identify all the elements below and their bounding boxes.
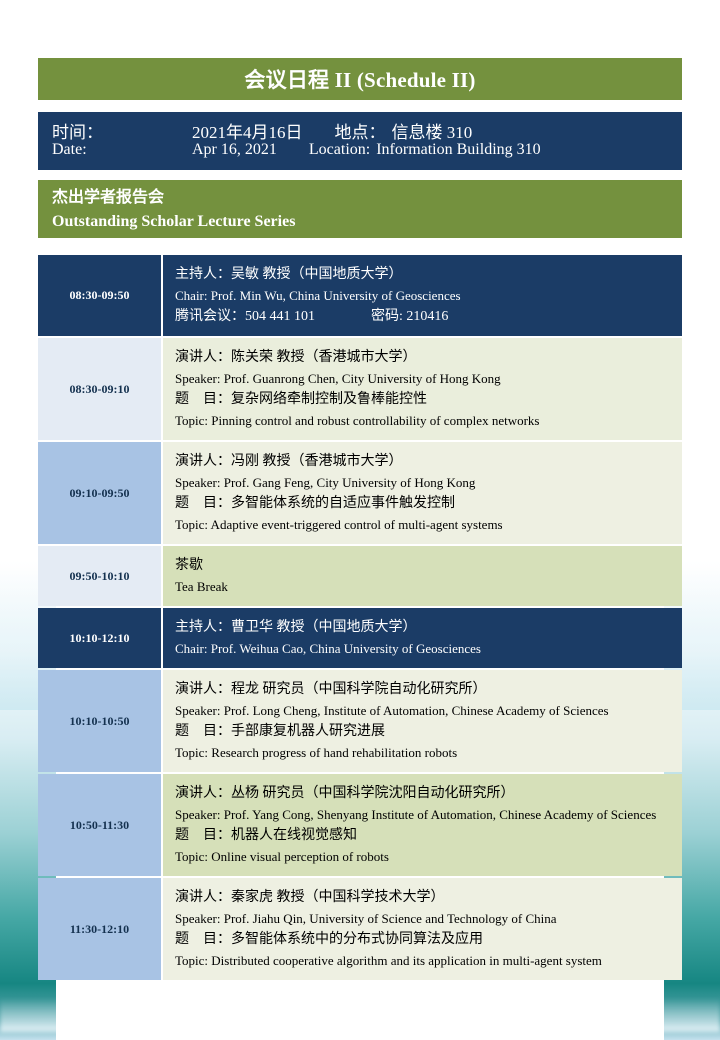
section-title-cn: 杰出学者报告会 [52, 186, 682, 210]
schedule-row: 11:30-12:10演讲人：秦家虎 教授（中国科学技术大学）Speaker: … [38, 878, 682, 980]
location-value-en: Information Building 310 [376, 141, 540, 159]
schedule-table: 08:30-09:50主持人：吴敏 教授（中国地质大学）Chair: Prof.… [38, 255, 682, 982]
date-label-cn: 时间： [52, 118, 192, 143]
schedule-row: 10:10-12:10主持人：曹卫华 教授（中国地质大学）Chair: Prof… [38, 608, 682, 668]
time-slot: 08:30-09:50 [38, 255, 163, 336]
topic-line-cn: 题 目：机器人在线视觉感知 [175, 825, 682, 846]
date-value-en: Apr 16, 2021 [192, 141, 277, 159]
event-info-bar: 时间： 2021年4月16日 地点： 信息楼 310 Date: Apr 16,… [38, 112, 682, 170]
speaker-line-cn: 茶歇 [175, 555, 682, 576]
time-slot: 10:10-12:10 [38, 608, 163, 668]
location-label-cn: 地点： [335, 118, 386, 143]
page-title-bar: 会议日程 II (Schedule II) [38, 58, 682, 100]
page-title: 会议日程 II (Schedule II) [244, 64, 475, 94]
time-slot: 11:30-12:10 [38, 878, 163, 980]
info-row-english: Date: Apr 16, 2021 Location: Information… [38, 141, 682, 164]
session-details: 茶歇Tea Break [163, 546, 682, 606]
speaker-line-cn: 演讲人：冯刚 教授（香港城市大学） [175, 451, 682, 472]
session-details: 主持人：曹卫华 教授（中国地质大学）Chair: Prof. Weihua Ca… [163, 608, 682, 668]
time-slot: 10:10-10:50 [38, 670, 163, 772]
topic-line-cn: 题 目：多智能体系统的自适应事件触发控制 [175, 493, 682, 514]
session-details: 演讲人：冯刚 教授（香港城市大学）Speaker: Prof. Gang Fen… [163, 442, 682, 544]
section-title-en: Outstanding Scholar Lecture Series [52, 210, 682, 234]
speaker-line-en: Tea Break [175, 576, 682, 597]
speaker-line-cn: 演讲人：程龙 研究员（中国科学院自动化研究所） [175, 679, 682, 700]
schedule-row: 09:50-10:10茶歇Tea Break [38, 546, 682, 606]
speaker-line-en: Speaker: Prof. Long Cheng, Institute of … [175, 700, 682, 721]
topic-line-en: Topic: Pinning control and robust contro… [175, 410, 682, 431]
location-value-cn: 信息楼 310 [392, 118, 473, 143]
topic-line-cn: 题 目：复杂网络牵制控制及鲁棒能控性 [175, 389, 682, 410]
chair-line-cn: 主持人：曹卫华 教授（中国地质大学） [175, 617, 682, 638]
topic-line-en: Topic: Online visual perception of robot… [175, 846, 682, 867]
schedule-row: 08:30-09:50主持人：吴敏 教授（中国地质大学）Chair: Prof.… [38, 255, 682, 336]
schedule-row: 10:50-11:30演讲人：丛杨 研究员（中国科学院沈阳自动化研究所）Spea… [38, 774, 682, 876]
location-label-en: Location: [309, 141, 370, 159]
time-slot: 10:50-11:30 [38, 774, 163, 876]
session-details: 演讲人：秦家虎 教授（中国科学技术大学）Speaker: Prof. Jiahu… [163, 878, 682, 980]
speaker-line-cn: 演讲人：秦家虎 教授（中国科学技术大学） [175, 887, 682, 908]
speaker-line-en: Speaker: Prof. Yang Cong, Shenyang Insti… [175, 804, 682, 825]
speaker-line-en: Speaker: Prof. Gang Feng, City Universit… [175, 472, 682, 493]
session-details: 演讲人：陈关荣 教授（香港城市大学）Speaker: Prof. Guanron… [163, 338, 682, 440]
session-details: 演讲人：丛杨 研究员（中国科学院沈阳自动化研究所）Speaker: Prof. … [163, 774, 682, 876]
chair-line-en: Chair: Prof. Min Wu, China University of… [175, 285, 682, 306]
time-slot: 09:50-10:10 [38, 546, 163, 606]
session-details: 主持人：吴敏 教授（中国地质大学）Chair: Prof. Min Wu, Ch… [163, 255, 682, 336]
schedule-row: 10:10-10:50演讲人：程龙 研究员（中国科学院自动化研究所）Speake… [38, 670, 682, 772]
session-details: 演讲人：程龙 研究员（中国科学院自动化研究所）Speaker: Prof. Lo… [163, 670, 682, 772]
schedule-row: 08:30-09:10演讲人：陈关荣 教授（香港城市大学）Speaker: Pr… [38, 338, 682, 440]
topic-line-en: Topic: Adaptive event-triggered control … [175, 514, 682, 535]
schedule-page: 会议日程 II (Schedule II) 时间： 2021年4月16日 地点：… [0, 0, 720, 1040]
time-slot: 08:30-09:10 [38, 338, 163, 440]
date-label-en: Date: [52, 141, 192, 159]
topic-line-cn: 题 目：手部康复机器人研究进展 [175, 721, 682, 742]
speaker-line-cn: 演讲人：丛杨 研究员（中国科学院沈阳自动化研究所） [175, 783, 682, 804]
meeting-id: 腾讯会议：504 441 101 [175, 309, 315, 324]
schedule-row: 09:10-09:50演讲人：冯刚 教授（香港城市大学）Speaker: Pro… [38, 442, 682, 544]
speaker-line-cn: 演讲人：陈关荣 教授（香港城市大学） [175, 347, 682, 368]
info-row-chinese: 时间： 2021年4月16日 地点： 信息楼 310 [38, 118, 682, 141]
chair-line-en: Chair: Prof. Weihua Cao, China Universit… [175, 638, 682, 659]
speaker-line-en: Speaker: Prof. Guanrong Chen, City Unive… [175, 368, 682, 389]
time-slot: 09:10-09:50 [38, 442, 163, 544]
meeting-info-line: 腾讯会议：504 441 101密码: 210416 [175, 306, 682, 327]
topic-line-en: Topic: Distributed cooperative algorithm… [175, 950, 682, 971]
topic-line-en: Topic: Research progress of hand rehabil… [175, 742, 682, 763]
speaker-line-en: Speaker: Prof. Jiahu Qin, University of … [175, 908, 682, 929]
topic-line-cn: 题 目：多智能体系统中的分布式协同算法及应用 [175, 929, 682, 950]
chair-line-cn: 主持人：吴敏 教授（中国地质大学） [175, 264, 682, 285]
meeting-password: 密码: 210416 [371, 309, 448, 324]
section-header: 杰出学者报告会 Outstanding Scholar Lecture Seri… [38, 180, 682, 238]
date-value-cn: 2021年4月16日 [192, 118, 303, 143]
